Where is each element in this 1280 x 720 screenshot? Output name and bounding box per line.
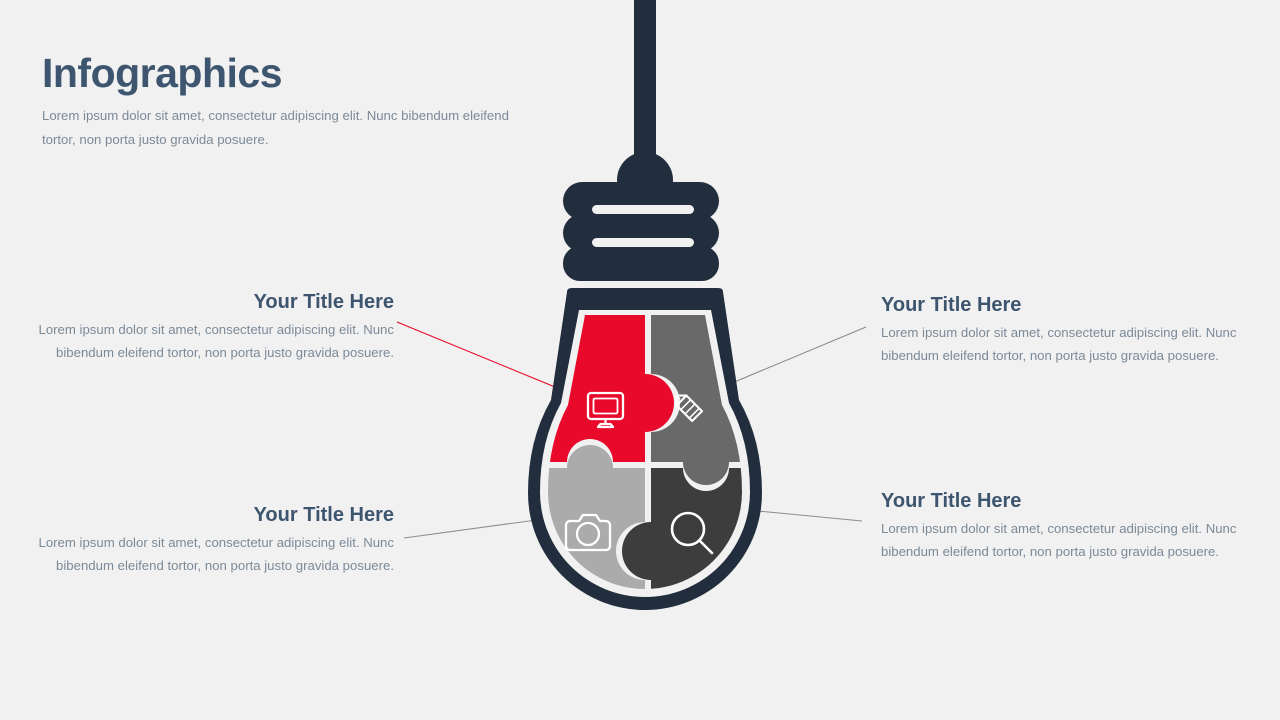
slide-canvas: Infographics Lorem ipsum dolor sit amet,… — [0, 0, 1280, 720]
callout-title: Your Title Here — [26, 503, 394, 528]
screw-base-groove-2 — [592, 238, 694, 247]
screw-base-bar-3 — [563, 246, 719, 281]
callout-title: Your Title Here — [881, 293, 1249, 318]
callout-bottom-left[interactable]: Your Title Here Lorem ipsum dolor sit am… — [26, 503, 394, 577]
callout-top-right[interactable]: Your Title Here Lorem ipsum dolor sit am… — [881, 293, 1249, 367]
screw-base-groove-1 — [592, 205, 694, 214]
callout-title: Your Title Here — [26, 290, 394, 315]
callout-body: Lorem ipsum dolor sit amet, consectetur … — [26, 532, 394, 577]
callout-bottom-right[interactable]: Your Title Here Lorem ipsum dolor sit am… — [881, 489, 1249, 563]
screw-base — [563, 182, 719, 281]
callout-title: Your Title Here — [881, 489, 1249, 514]
callout-body: Lorem ipsum dolor sit amet, consectetur … — [881, 518, 1249, 563]
callout-body: Lorem ipsum dolor sit amet, consectetur … — [881, 322, 1249, 367]
callout-body: Lorem ipsum dolor sit amet, consectetur … — [26, 319, 394, 364]
hanging-cord — [634, 0, 656, 171]
callout-top-left[interactable]: Your Title Here Lorem ipsum dolor sit am… — [26, 290, 394, 364]
